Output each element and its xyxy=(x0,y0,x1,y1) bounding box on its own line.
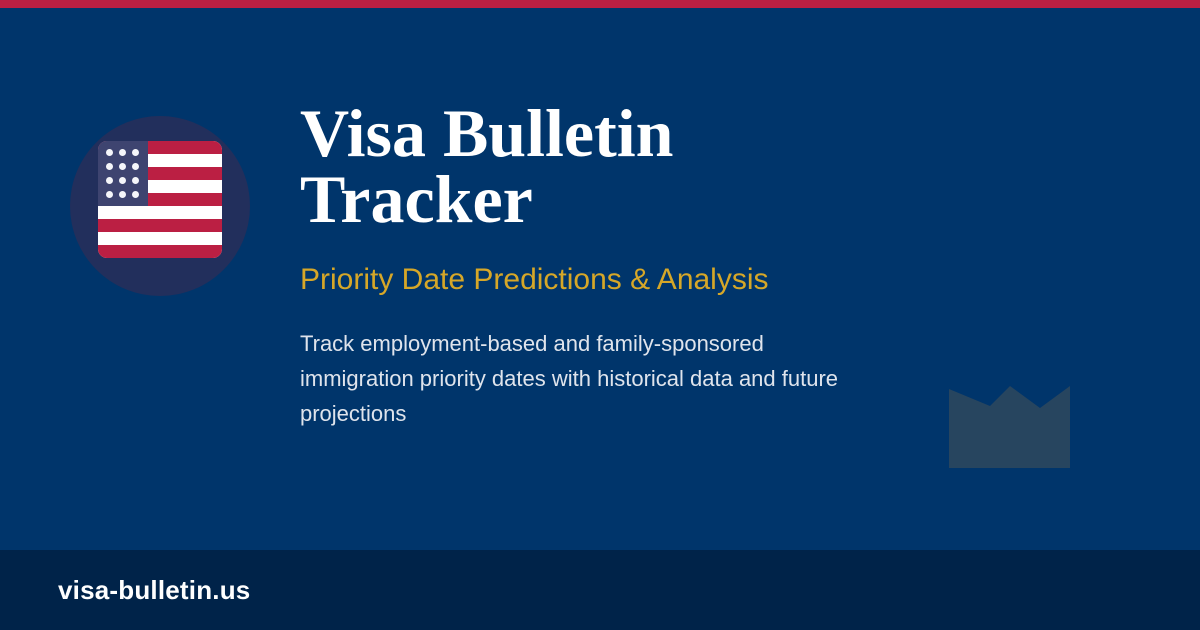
flag-stripe xyxy=(98,245,222,258)
flag-star-icon xyxy=(106,149,113,156)
us-flag-icon xyxy=(98,141,222,258)
page-description: Track employment-based and family-sponso… xyxy=(300,298,860,431)
hero-content: Visa Bulletin Tracker Priority Date Pred… xyxy=(0,8,1200,550)
flag-star-icon xyxy=(132,149,139,156)
footer-bar: visa-bulletin.us xyxy=(0,550,1200,630)
emblem-circle xyxy=(70,116,250,296)
area-chart-icon xyxy=(949,378,1071,468)
flag-star-icon xyxy=(106,191,113,198)
flag-star-icon xyxy=(119,177,126,184)
headline-block: Visa Bulletin Tracker Priority Date Pred… xyxy=(300,100,920,431)
flag-stripe xyxy=(98,219,222,232)
flag-canton xyxy=(98,141,148,206)
flag-star-icon xyxy=(132,177,139,184)
flag-star-icon xyxy=(106,177,113,184)
page-title: Visa Bulletin Tracker xyxy=(300,100,920,232)
top-accent-stripe xyxy=(0,0,1200,8)
flag-star-icon xyxy=(119,191,126,198)
flag-star-icon xyxy=(106,163,113,170)
flag-star-icon xyxy=(119,163,126,170)
og-card: Visa Bulletin Tracker Priority Date Pred… xyxy=(0,0,1200,630)
page-subtitle: Priority Date Predictions & Analysis xyxy=(300,232,920,298)
flag-star-icon xyxy=(119,149,126,156)
footer-domain-label: visa-bulletin.us xyxy=(58,550,250,630)
flag-star-icon xyxy=(132,191,139,198)
flag-star-icon xyxy=(132,163,139,170)
